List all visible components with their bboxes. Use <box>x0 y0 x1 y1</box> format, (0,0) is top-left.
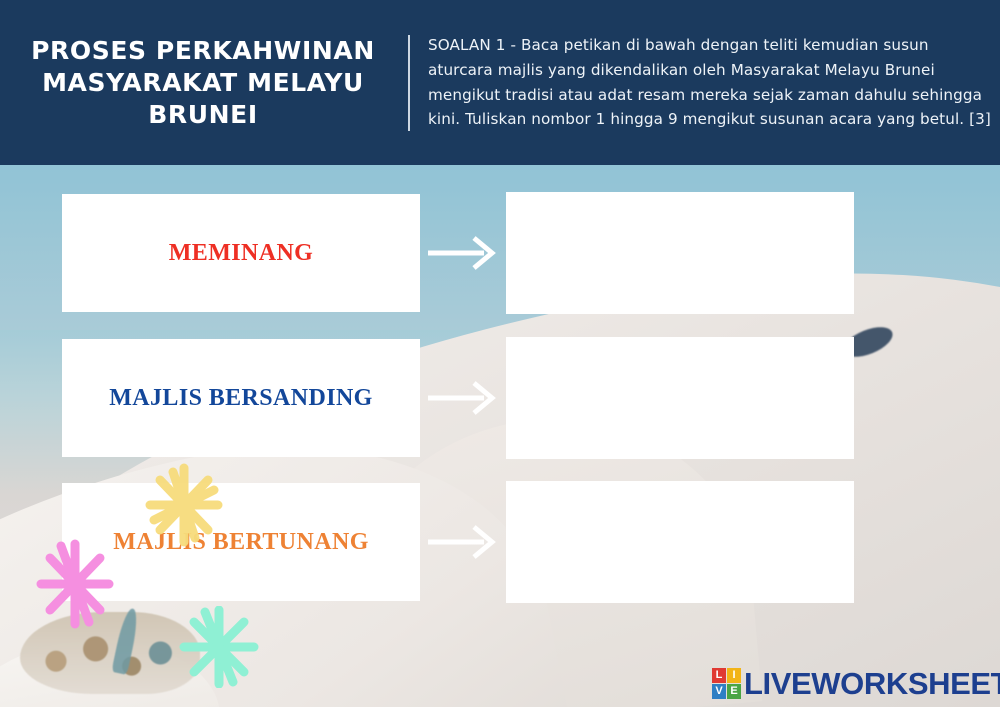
page-title: PROSES PERKAHWINAN MASYARAKAT MELAYU BRU… <box>16 35 390 131</box>
exercise-row-2: MAJLIS BERSANDING <box>62 337 854 459</box>
logo-tile-v: V <box>712 684 726 699</box>
term-card-2: MAJLIS BERSANDING <box>62 339 420 457</box>
liveworksheets-logo[interactable]: L I V E LIVEWORKSHEETS <box>712 668 1000 699</box>
term-label-1: MEMINANG <box>169 240 314 267</box>
arrow-right-icon-1 <box>420 230 506 276</box>
sparkle-teal-icon <box>178 606 260 688</box>
liveworksheets-logo-text: LIVEWORKSHEETS <box>744 668 1000 699</box>
logo-tile-e: E <box>727 684 741 699</box>
arrow-right-icon-2 <box>420 375 506 421</box>
sparkle-yellow-icon <box>140 462 228 548</box>
sparkle-pink-icon <box>33 538 117 630</box>
exercise-row-1: MEMINANG <box>62 192 854 314</box>
question-prompt: SOALAN 1 - Baca petikan di bawah dengan … <box>428 33 992 132</box>
answer-card-1[interactable] <box>506 192 854 314</box>
term-label-2: MAJLIS BERSANDING <box>109 385 373 412</box>
worksheet-page: PROSES PERKAHWINAN MASYARAKAT MELAYU BRU… <box>0 0 1000 707</box>
prompt-container: SOALAN 1 - Baca petikan di bawah dengan … <box>410 0 1000 165</box>
header-bar: PROSES PERKAHWINAN MASYARAKAT MELAYU BRU… <box>0 0 1000 165</box>
answer-card-3[interactable] <box>506 481 854 603</box>
logo-tile-l: L <box>712 668 726 683</box>
logo-tile-i: I <box>727 668 741 683</box>
title-container: PROSES PERKAHWINAN MASYARAKAT MELAYU BRU… <box>0 0 408 165</box>
term-card-1: MEMINANG <box>62 194 420 312</box>
answer-card-2[interactable] <box>506 337 854 459</box>
liveworksheets-logo-icon: L I V E <box>712 668 741 699</box>
arrow-right-icon-3 <box>420 519 506 565</box>
